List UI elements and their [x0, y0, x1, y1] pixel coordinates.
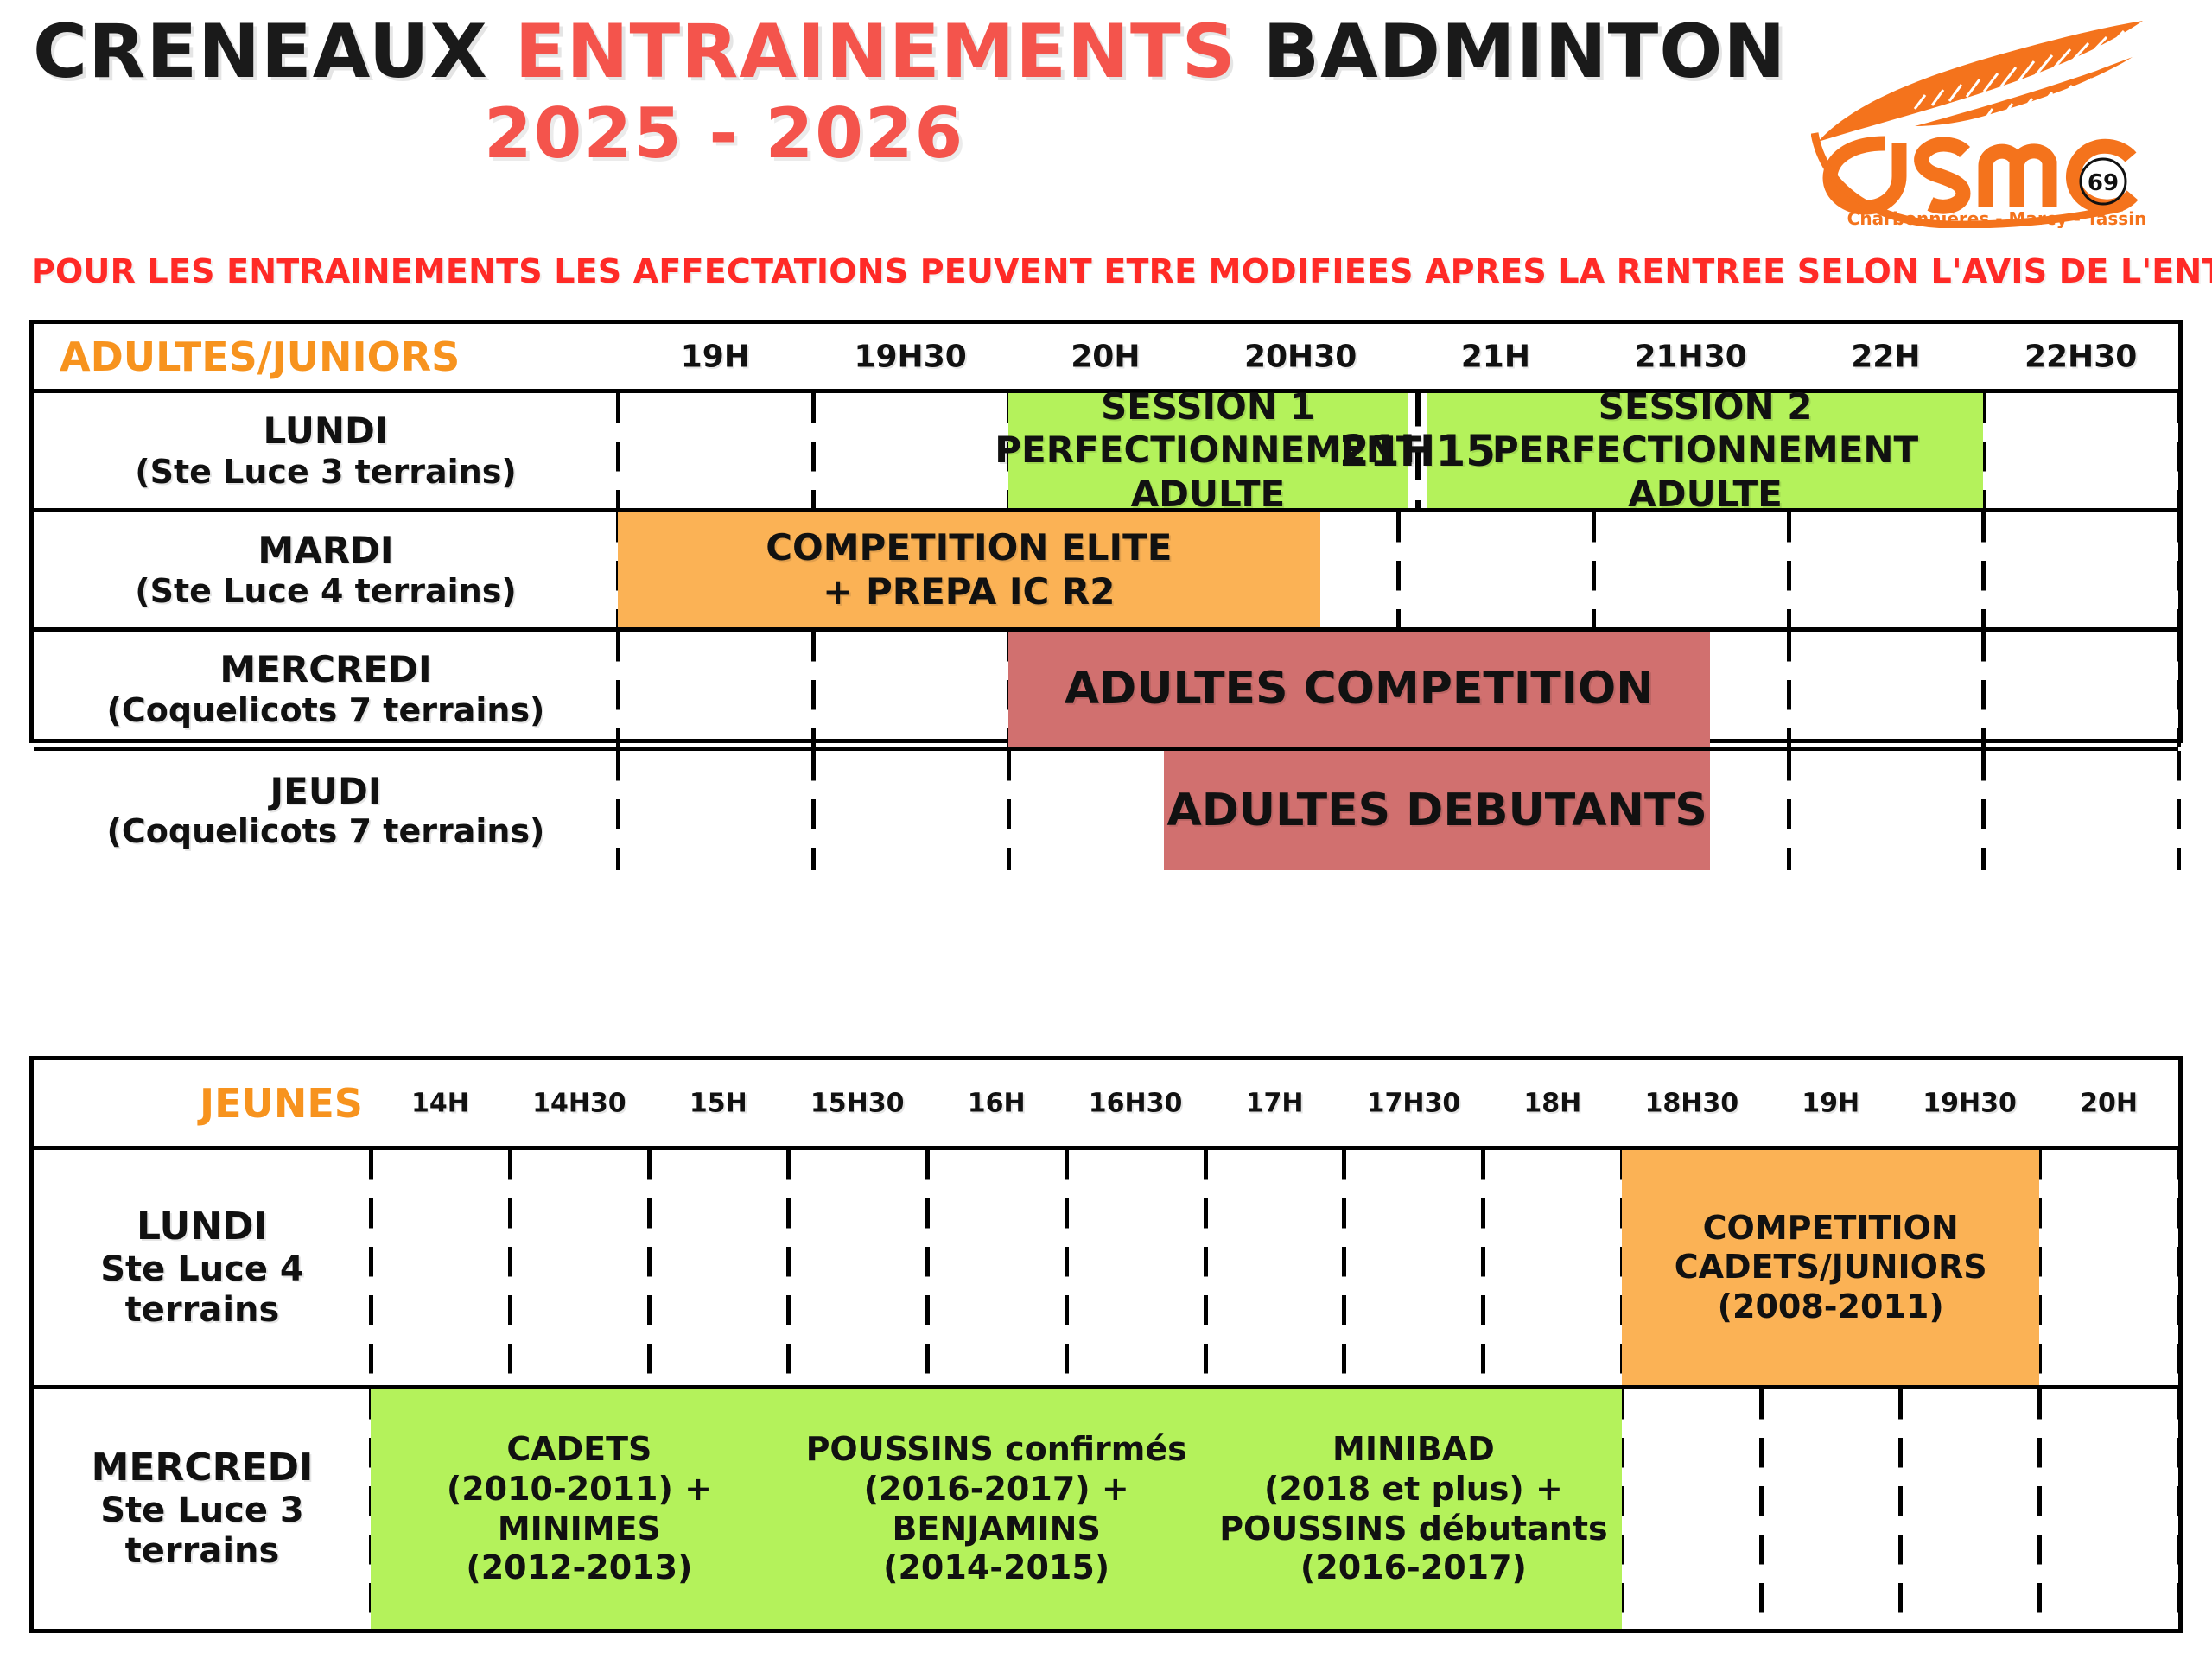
timeline-track: SESSION 1PERFECTIONNEMENTADULTESESSION 2… [618, 393, 2178, 508]
block-text-line: (2012-2013) [466, 1548, 692, 1588]
table-row: MARDI(Ste Luce 4 terrains)COMPETITION EL… [34, 512, 2178, 632]
day-name: LUNDI [263, 410, 388, 453]
grid-tick [2177, 751, 2181, 870]
block-text-line: ADULTE [1131, 473, 1286, 516]
grid-tick [2037, 1389, 2042, 1629]
adults-rows: LUNDI(Ste Luce 3 terrains)SESSION 1PERFE… [34, 393, 2178, 870]
title-season: 2025 - 2026 [484, 93, 964, 174]
block-text-line: ADULTE [1628, 473, 1783, 516]
youth-rows: LUNDISte Luce 4 terrainsCOMPETITIONCADET… [34, 1150, 2178, 1629]
session-split-time: 21H15 [1339, 426, 1496, 476]
day-label: MERCREDISte Luce 3 terrains [34, 1389, 371, 1629]
block-text-line: CADETS [506, 1430, 652, 1470]
schedule-block[interactable]: ADULTES COMPETITION [1008, 632, 1711, 747]
block-text-line: ADULTES COMPETITION [1065, 662, 1654, 715]
grid-tick [1981, 512, 1986, 627]
day-name: JEUDI [270, 770, 382, 813]
block-text-line: COMPETITION ELITE [766, 526, 1172, 569]
block-text-line: CADETS/JUNIORS [1675, 1248, 1987, 1287]
day-name: LUNDI [137, 1205, 268, 1249]
block-text-line: (2018 et plus) + [1264, 1470, 1563, 1510]
timeline-track: ADULTES DEBUTANTS [618, 751, 2178, 870]
grid-tick [2177, 1389, 2181, 1629]
block-text-line: + PREPA IC R2 [823, 570, 1115, 613]
block-text-line: POUSSINS débutants [1219, 1510, 1607, 1549]
block-text-line: (2016-2017) [1300, 1548, 1527, 1588]
youth-category-label: JEUNES [200, 1080, 363, 1127]
grid-tick [2177, 393, 2181, 508]
youth-time-axis: 14H14H3015H15H3016H16H3017H17H3018H18H30… [371, 1060, 2178, 1146]
title-badminton: BADMINTON [1263, 9, 1787, 95]
time-tick-16h30: 16H30 [1089, 1088, 1183, 1118]
grid-tick [1759, 1389, 1764, 1629]
timeline-track: CADETS(2010-2011) +MINIMES(2012-2013)POU… [371, 1389, 2178, 1629]
grid-tick [1065, 1150, 1069, 1385]
schedule-block[interactable]: SESSION 2PERFECTIONNEMENTADULTE [1427, 393, 1983, 508]
block-text-line: COMPETITION [1703, 1209, 1959, 1249]
day-label: LUNDI(Ste Luce 3 terrains) [34, 393, 618, 508]
schedule-block[interactable]: COMPETITION ELITE+ PREPA IC R2 [618, 512, 1320, 627]
youth-header-row: JEUNES 14H14H3015H15H3016H16H3017H17H301… [34, 1060, 2178, 1150]
block-text-line: PERFECTIONNEMENT [1492, 429, 1918, 472]
logo-tagline: Charbonnières - Marcy - Tassin [1847, 208, 2147, 228]
timeline-track: COMPETITIONCADETS/JUNIORS(2008-2011) [371, 1150, 2178, 1385]
block-text-line: (2016-2017) + [864, 1470, 1129, 1510]
grid-tick [1396, 512, 1401, 627]
grid-tick [811, 393, 816, 508]
day-name: MARDI [257, 529, 393, 572]
grid-tick [1481, 1150, 1485, 1385]
day-venue: (Ste Luce 4 terrains) [135, 572, 517, 611]
adults-header-row: ADULTES/JUNIORS 19H19H3020H20H3021H21H30… [34, 324, 2178, 393]
time-tick-18h30: 18H30 [1644, 1088, 1738, 1118]
adults-time-axis: 19H19H3020H20H3021H21H3022H22H30 [618, 324, 2178, 389]
time-tick-17h: 17H [1246, 1088, 1304, 1118]
block-text-line: (2008-2011) [1718, 1287, 1944, 1327]
grid-tick [811, 751, 816, 870]
grid-tick [647, 1150, 652, 1385]
time-tick-16h: 16H [968, 1088, 1026, 1118]
schedule-block[interactable]: MINIBAD(2018 et plus) +POUSSINS débutant… [1205, 1389, 1623, 1629]
time-tick-18h: 18H [1523, 1088, 1581, 1118]
time-tick-21h: 21H [1461, 339, 1530, 374]
grid-tick [2177, 1150, 2181, 1385]
grid-tick [2177, 632, 2181, 747]
asmc-logo: 69 Charbonnières - Marcy - Tassin [1811, 12, 2183, 228]
grid-tick [1204, 1150, 1208, 1385]
title-entrainements: ENTRAINEMENTS [515, 9, 1263, 95]
block-text-line: ADULTES DEBUTANTS [1166, 784, 1707, 837]
timeline-track: COMPETITION ELITE+ PREPA IC R2 [618, 512, 2178, 627]
table-row: LUNDISte Luce 4 terrainsCOMPETITIONCADET… [34, 1150, 2178, 1389]
day-name: MERCREDI [219, 648, 431, 691]
day-label: JEUDI(Coquelicots 7 terrains) [34, 751, 618, 870]
table-row: LUNDI(Ste Luce 3 terrains)SESSION 1PERFE… [34, 393, 2178, 512]
grid-tick [1981, 751, 1986, 870]
time-tick-14h: 14H [411, 1088, 469, 1118]
timeline-track: ADULTES COMPETITION [618, 632, 2178, 747]
time-tick-15h30: 15H30 [810, 1088, 905, 1118]
block-text-line: MINIBAD [1332, 1430, 1495, 1470]
logo-badge-69: 69 [2088, 170, 2119, 196]
block-text-line: SESSION 2 [1599, 385, 1813, 429]
time-tick-14h30: 14H30 [532, 1088, 626, 1118]
grid-tick [1592, 512, 1596, 627]
day-venue: (Coquelicots 7 terrains) [107, 812, 545, 851]
block-text-line: (2010-2011) + [447, 1470, 712, 1510]
time-tick-21h30: 21H30 [1634, 339, 1746, 374]
page-title: CRENEAUX ENTRAINEMENTS BADMINTON [33, 9, 1786, 95]
time-tick-20h: 20H [2080, 1088, 2138, 1118]
block-text-line: MINIMES [498, 1510, 661, 1549]
adults-schedule-table: ADULTES/JUNIORS 19H19H3020H20H3021H21H30… [29, 320, 2183, 743]
grid-tick [811, 632, 816, 747]
block-text-line: BENJAMINS [892, 1510, 1100, 1549]
grid-tick [1787, 751, 1791, 870]
day-venue: (Ste Luce 3 terrains) [135, 453, 517, 492]
schedule-poster: CRENEAUX ENTRAINEMENTS BADMINTON 2025 - … [0, 0, 2212, 1659]
table-row: JEUDI(Coquelicots 7 terrains)ADULTES DEB… [34, 751, 2178, 870]
schedule-block[interactable]: COMPETITIONCADETS/JUNIORS(2008-2011) [1622, 1150, 2039, 1385]
grid-tick [1981, 632, 1986, 747]
time-tick-19h30: 19H30 [854, 339, 966, 374]
time-tick-17h30: 17H30 [1367, 1088, 1461, 1118]
schedule-block[interactable]: CADETS(2010-2011) +MINIMES(2012-2013) [371, 1389, 788, 1629]
block-text-line: POUSSINS confirmés [806, 1430, 1187, 1470]
time-tick-20h: 20H [1071, 339, 1140, 374]
day-label: MERCREDI(Coquelicots 7 terrains) [34, 632, 618, 747]
grid-tick [1007, 751, 1011, 870]
adults-category-label: ADULTES/JUNIORS [60, 334, 460, 380]
day-label: LUNDISte Luce 4 terrains [34, 1150, 371, 1385]
grid-tick [925, 1150, 930, 1385]
time-tick-20h30: 20H30 [1244, 339, 1357, 374]
notice-text: POUR LES ENTRAINEMENTS LES AFFECTATIONS … [31, 252, 2212, 290]
day-label: MARDI(Ste Luce 4 terrains) [34, 512, 618, 627]
grid-tick [2177, 512, 2181, 627]
time-tick-22h30: 22H30 [2024, 339, 2137, 374]
grid-tick [786, 1150, 791, 1385]
grid-tick [508, 1150, 512, 1385]
title-creneaux: CRENEAUX [33, 9, 515, 95]
day-name: MERCREDI [92, 1446, 314, 1491]
grid-tick [1898, 1389, 1903, 1629]
grid-tick [1787, 512, 1791, 627]
schedule-block[interactable]: ADULTES DEBUTANTS [1164, 751, 1710, 870]
youth-schedule-table: JEUNES 14H14H3015H15H3016H16H3017H17H301… [29, 1056, 2183, 1633]
time-tick-19h: 19H [1802, 1088, 1859, 1118]
grid-tick [1342, 1150, 1346, 1385]
day-venue: Ste Luce 4 terrains [41, 1249, 364, 1331]
time-tick-19h: 19H [681, 339, 750, 374]
poster-header: CRENEAUX ENTRAINEMENTS BADMINTON 2025 - … [0, 0, 2212, 251]
schedule-block[interactable]: POUSSINS confirmés(2016-2017) +BENJAMINS… [788, 1389, 1205, 1629]
block-text-line: (2014-2015) [883, 1548, 1109, 1588]
grid-tick [1787, 632, 1791, 747]
day-venue: (Coquelicots 7 terrains) [107, 691, 545, 730]
block-text-line: SESSION 1 [1101, 385, 1315, 429]
time-tick-19h30: 19H30 [1923, 1088, 2017, 1118]
table-row: MERCREDI(Coquelicots 7 terrains)ADULTES … [34, 632, 2178, 751]
time-tick-15h: 15H [690, 1088, 747, 1118]
time-tick-22h: 22H [1851, 339, 1920, 374]
day-venue: Ste Luce 3 terrains [41, 1491, 364, 1572]
table-row: MERCREDISte Luce 3 terrainsCADETS(2010-2… [34, 1389, 2178, 1629]
